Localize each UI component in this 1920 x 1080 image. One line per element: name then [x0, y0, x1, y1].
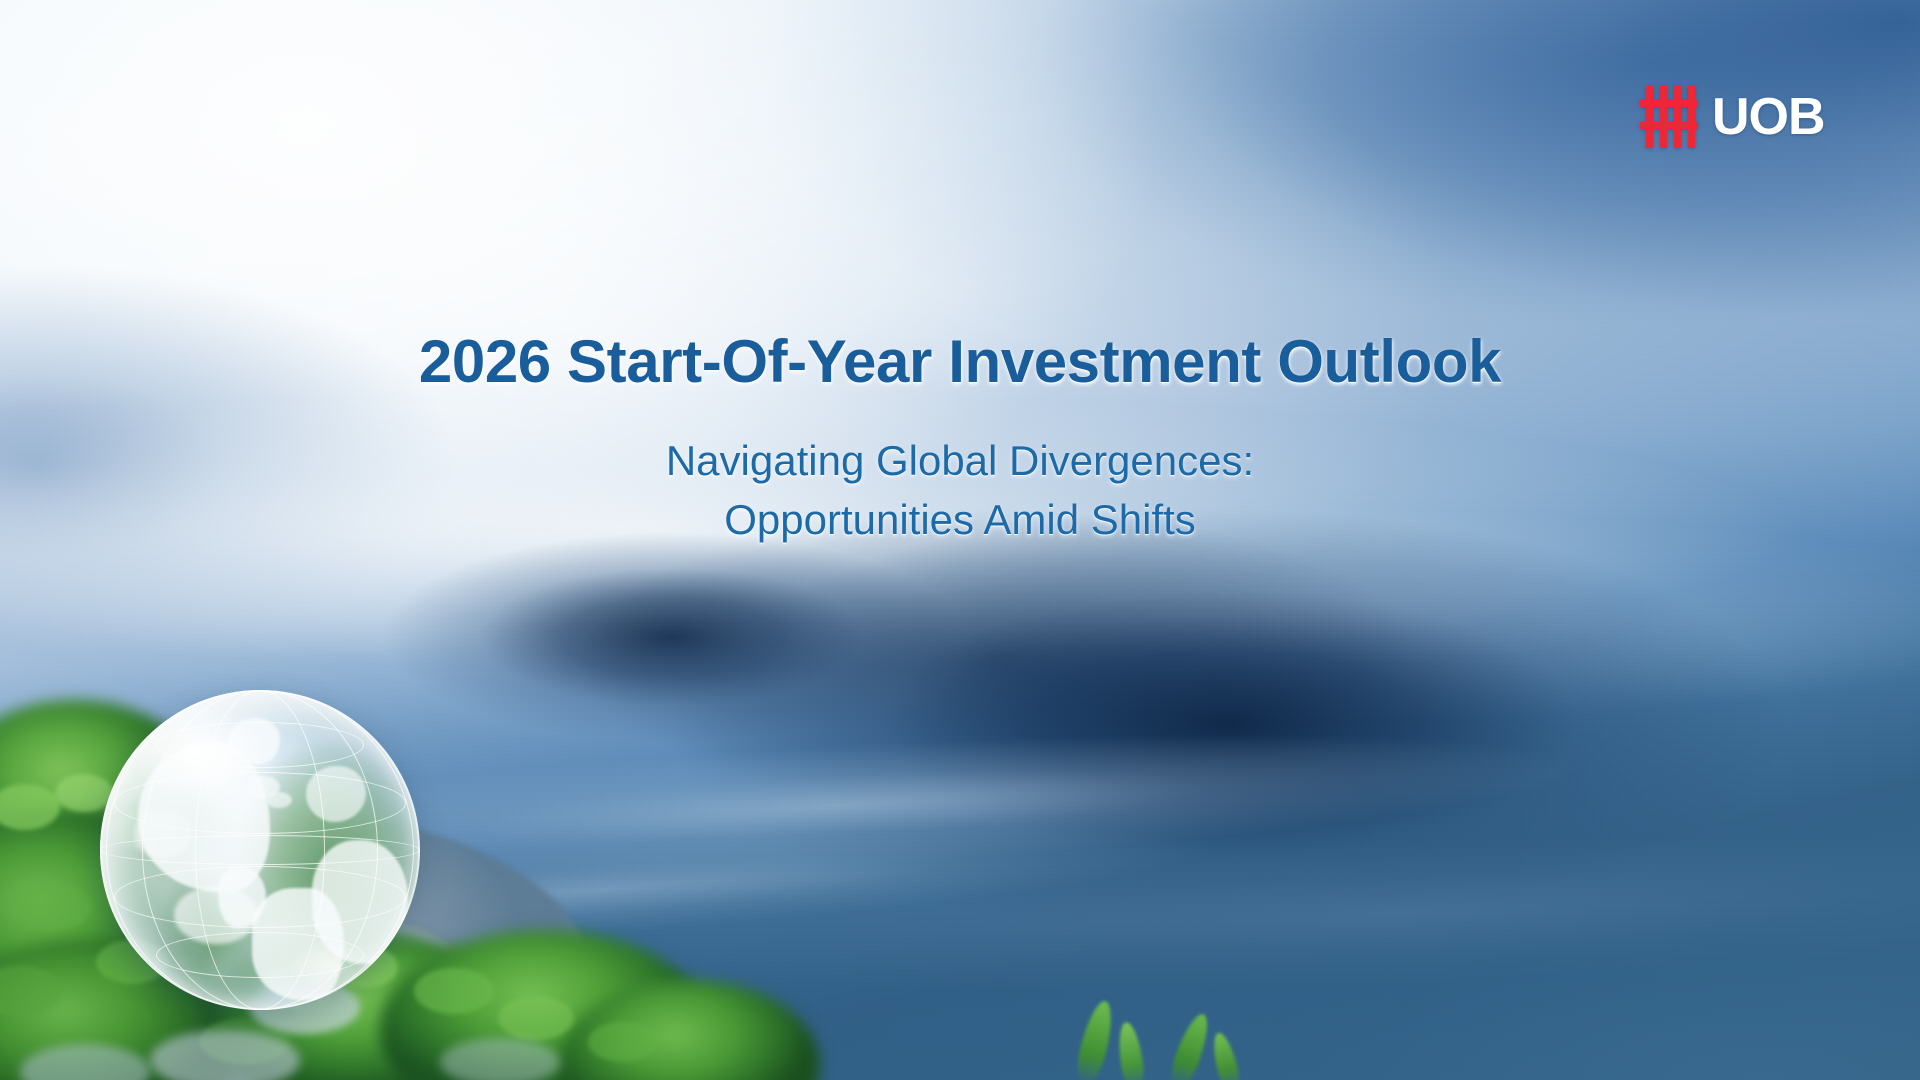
uob-logo: UOB — [1644, 86, 1825, 148]
logo-bar-vertical — [1674, 86, 1681, 148]
rock-highlight — [440, 1038, 560, 1080]
logo-bar-horizontal — [1640, 122, 1698, 129]
logo-bar-vertical — [1646, 86, 1653, 148]
uob-logo-mark-icon — [1644, 86, 1698, 148]
globe-rim-light — [100, 690, 420, 1010]
moss-fleck — [588, 1022, 658, 1062]
moss-fleck — [12, 882, 92, 930]
logo-bar-vertical — [1688, 86, 1695, 148]
moss-fleck — [414, 968, 494, 1014]
moss-fleck — [498, 996, 574, 1040]
logo-bar-vertical — [1660, 86, 1667, 148]
uob-wordmark: UOB — [1712, 91, 1825, 143]
crystal-globe — [100, 690, 420, 1010]
title-slide: 2026 Start-Of-Year Investment Outlook Na… — [0, 0, 1920, 1080]
globe-sphere — [100, 690, 420, 1010]
logo-bar-horizontal — [1640, 100, 1698, 107]
